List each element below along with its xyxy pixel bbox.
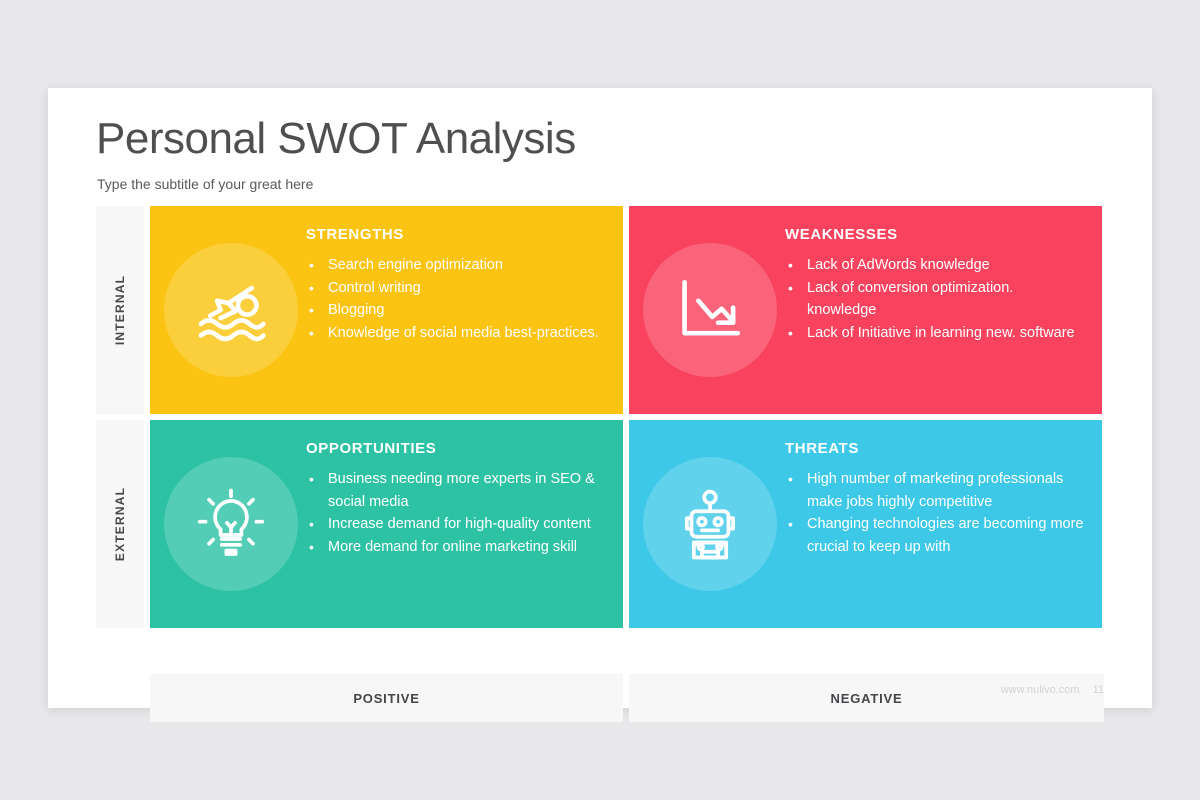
axis-label-positive: POSITIVE — [150, 674, 623, 722]
quadrant-opportunities-list: Business needing more experts in SEO & s… — [306, 468, 607, 558]
page-title: Personal SWOT Analysis — [96, 114, 576, 164]
footer-website: www.nulivo.com — [1001, 684, 1080, 696]
list-item: High number of marketing professionals m… — [785, 468, 1086, 513]
lightbulb-icon — [164, 457, 298, 591]
footer: www.nulivo.com 11 — [1001, 684, 1104, 696]
robot-icon — [643, 457, 777, 591]
list-item: Knowledge of social media best-practices… — [306, 322, 607, 345]
list-item: Lack of Initiative in learning new. soft… — [785, 322, 1086, 345]
list-item: Increase demand for high-quality content — [306, 513, 607, 536]
quadrant-weaknesses-heading: WEAKNESSES — [785, 226, 1086, 243]
axis-label-negative: NEGATIVE — [629, 674, 1104, 722]
list-item: Lack of conversion optimization. knowled… — [785, 277, 1086, 322]
page-subtitle: Type the subtitle of your great here — [97, 176, 313, 192]
list-item: Search engine optimization — [306, 254, 607, 277]
list-item: Blogging — [306, 299, 607, 322]
quadrant-opportunities-body: OPPORTUNITIES Business needing more expe… — [306, 440, 607, 558]
quadrant-weaknesses-body: WEAKNESSES Lack of AdWords knowledge Lac… — [785, 226, 1086, 344]
quadrant-opportunities-heading: OPPORTUNITIES — [306, 440, 607, 457]
list-item: Control writing — [306, 277, 607, 300]
quadrant-threats-heading: THREATS — [785, 440, 1086, 457]
slide-canvas: Personal SWOT Analysis Type the subtitle… — [48, 88, 1152, 708]
quadrant-weaknesses-list: Lack of AdWords knowledge Lack of conver… — [785, 254, 1086, 344]
quadrant-weaknesses[interactable]: WEAKNESSES Lack of AdWords knowledge Lac… — [629, 206, 1102, 414]
quadrant-threats[interactable]: THREATS High number of marketing profess… — [629, 420, 1102, 628]
axis-label-internal: INTERNAL — [96, 206, 144, 414]
quadrant-opportunities[interactable]: OPPORTUNITIES Business needing more expe… — [150, 420, 623, 628]
swimmer-icon — [164, 243, 298, 377]
swot-grid: INTERNAL EXTERNAL STRENGTHS Search engin… — [96, 206, 1104, 668]
quadrant-strengths-heading: STRENGTHS — [306, 226, 607, 243]
quadrant-threats-body: THREATS High number of marketing profess… — [785, 440, 1086, 558]
quadrant-strengths-list: Search engine optimization Control writi… — [306, 254, 607, 344]
list-item: Changing technologies are becoming more … — [785, 513, 1086, 558]
polarity-row: POSITIVE NEGATIVE — [150, 674, 1104, 722]
list-item: Business needing more experts in SEO & s… — [306, 468, 607, 513]
axis-label-external-text: EXTERNAL — [113, 487, 127, 561]
axis-label-external: EXTERNAL — [96, 420, 144, 628]
quadrant-strengths[interactable]: STRENGTHS Search engine optimization Con… — [150, 206, 623, 414]
quadrant-strengths-body: STRENGTHS Search engine optimization Con… — [306, 226, 607, 344]
quadrant-threats-list: High number of marketing professionals m… — [785, 468, 1086, 558]
declining-chart-icon — [643, 243, 777, 377]
axis-label-internal-text: INTERNAL — [113, 275, 127, 345]
list-item: Lack of AdWords knowledge — [785, 254, 1086, 277]
footer-page-number: 11 — [1093, 684, 1104, 696]
list-item: More demand for online marketing skill — [306, 536, 607, 559]
